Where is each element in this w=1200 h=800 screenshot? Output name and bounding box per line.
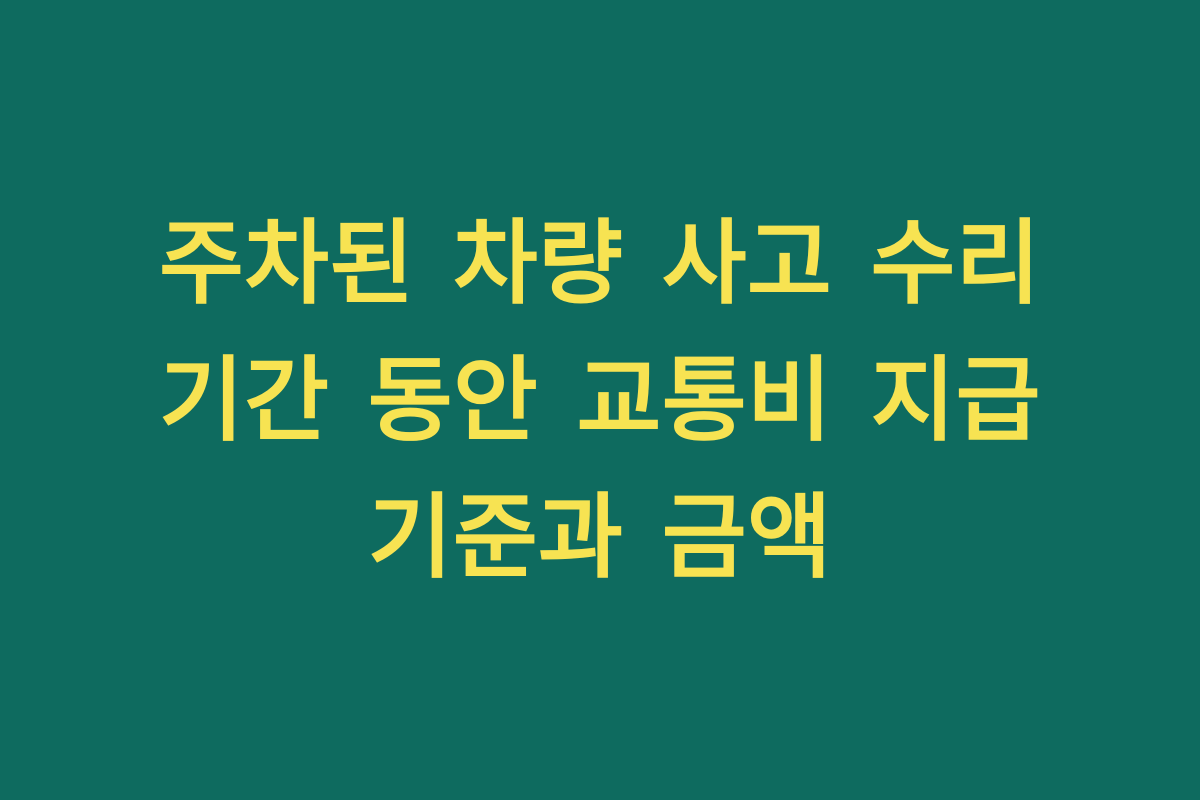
page-title-line-1: 주차된 차량 사고 수리 xyxy=(70,195,1130,332)
page-title: 주차된 차량 사고 수리 기간 동안 교통비 지급 기준과 금액 xyxy=(70,195,1130,606)
title-card: 주차된 차량 사고 수리 기간 동안 교통비 지급 기준과 금액 xyxy=(0,0,1200,800)
page-title-line-3: 기준과 금액 xyxy=(70,469,1130,606)
page-title-line-2: 기간 동안 교통비 지급 xyxy=(70,332,1130,469)
